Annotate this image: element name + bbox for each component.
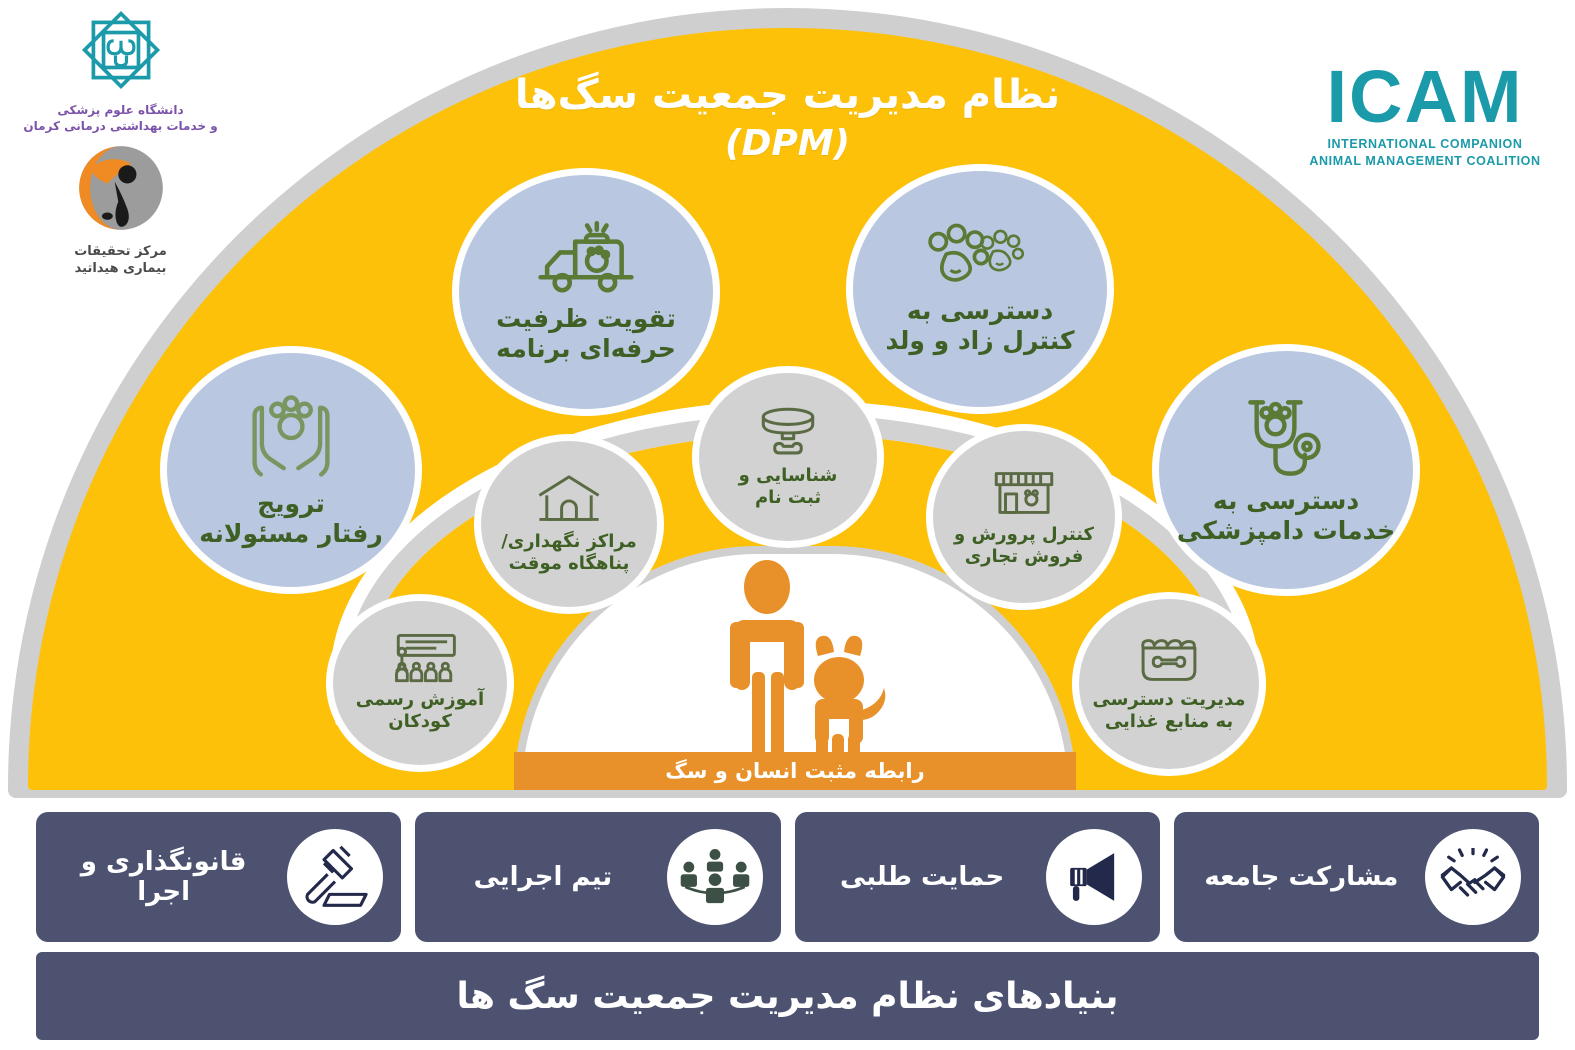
circle-veterinary-services-access[interactable]: دسترسی به خدمات دامپزشکی xyxy=(1152,344,1420,596)
kerman-university-emblem-icon xyxy=(75,4,167,100)
circle-breeding-sale-control[interactable]: کنترل پرورش و فروش تجاری xyxy=(926,424,1122,610)
circle-formal-child-education[interactable]: آموزش رسمی کودکان xyxy=(326,594,514,772)
circle-label: ترویج رفتار مسئولانه xyxy=(199,489,382,550)
two-paw-prints-icon xyxy=(924,222,1036,296)
circle-label: دسترسی به کنترل زاد و ولد xyxy=(886,296,1075,357)
research-center-name: مرکز تحقیقات بیماری هیداتید xyxy=(74,244,167,278)
dog-collar-tag-icon xyxy=(750,405,826,465)
foundations-footer-label: بنیادهای نظام مدیریت جمعیت سگ ها xyxy=(456,976,1118,1017)
hydatid-research-center-emblem-icon xyxy=(69,138,173,242)
gavel-icon xyxy=(287,829,383,925)
icam-subtitle: INTERNATIONAL COMPANION ANIMAL MANAGEMEN… xyxy=(1291,136,1559,169)
dog-food-bowl-icon xyxy=(1132,635,1206,689)
foundation-card-label: مشارکت جامعه xyxy=(1192,862,1411,892)
foundation-card-label: قانونگذاری و اجرا xyxy=(54,847,273,907)
circle-label: شناسایی و ثبت نام xyxy=(739,465,838,509)
university-name: دانشگاه علوم پزشکی و خدمات بهداشتی درمان… xyxy=(23,102,217,134)
circle-identification-registration[interactable]: شناسایی و ثبت نام xyxy=(692,366,884,548)
foundation-card-community-engagement[interactable]: مشارکت جامعه xyxy=(1174,812,1539,942)
foundation-card-advocacy[interactable]: حمایت طلبی xyxy=(795,812,1160,942)
hands-holding-paw-icon xyxy=(239,391,343,489)
infographic-canvas: نظام مدیریت جمعیت سگ‌ها (DPM) xyxy=(0,0,1575,1050)
icam-logo: ICAM INTERNATIONAL COMPANION ANIMAL MANA… xyxy=(1291,62,1559,169)
circle-label: آموزش رسمی کودکان xyxy=(356,689,484,733)
circle-responsible-behaviour[interactable]: ترویج رفتار مسئولانه xyxy=(160,346,422,594)
classroom-teaching-icon xyxy=(382,633,458,689)
core-relationship-bar: رابطه مثبت انسان و سگ xyxy=(514,752,1076,790)
stethoscope-paw-icon xyxy=(1233,394,1339,486)
round-table-team-icon xyxy=(667,829,763,925)
circle-label: مراکز نگهداری/ پناهگاه موقت xyxy=(501,531,637,575)
foundation-card-label: حمایت طلبی xyxy=(813,862,1032,892)
circle-label: دسترسی به خدمات دامپزشکی xyxy=(1177,486,1395,547)
dog-house-icon xyxy=(532,473,606,531)
pet-shop-storefront-icon xyxy=(987,466,1061,524)
foundation-cards-row: مشارکت جامعه حمایت طلبی xyxy=(36,812,1539,942)
megaphone-icon xyxy=(1046,829,1142,925)
circle-label: تقویت ظرفیت حرفه‌ای برنامه xyxy=(496,304,676,365)
circle-birth-control-access[interactable]: دسترسی به کنترل زاد و ولد xyxy=(846,164,1114,414)
person-with-dog-icon xyxy=(690,560,900,760)
foundation-card-executive-team[interactable]: تیم اجرایی xyxy=(415,812,780,942)
foundation-card-legislation-enforcement[interactable]: قانونگذاری و اجرا xyxy=(36,812,401,942)
circle-label: مدیریت دسترسی به منابع غذایی xyxy=(1093,689,1246,733)
circle-professional-capacity[interactable]: تقویت ظرفیت حرفه‌ای برنامه xyxy=(452,168,720,416)
circle-holding-centres-shelters[interactable]: مراکز نگهداری/ پناهگاه موقت xyxy=(474,434,664,614)
circle-label: کنترل پرورش و فروش تجاری xyxy=(954,524,1094,568)
foundation-card-label: تیم اجرایی xyxy=(433,862,652,892)
foundations-footer-bar: بنیادهای نظام مدیریت جمعیت سگ ها xyxy=(36,952,1539,1040)
left-logo-block: دانشگاه علوم پزشکی و خدمات بهداشتی درمان… xyxy=(18,4,223,294)
circle-food-resource-access[interactable]: مدیریت دسترسی به منابع غذایی xyxy=(1072,592,1266,776)
core-relationship-label: رابطه مثبت انسان و سگ xyxy=(665,759,924,783)
animal-ambulance-van-icon xyxy=(532,220,640,304)
handshake-icon xyxy=(1425,829,1521,925)
icam-wordmark: ICAM xyxy=(1291,62,1559,132)
